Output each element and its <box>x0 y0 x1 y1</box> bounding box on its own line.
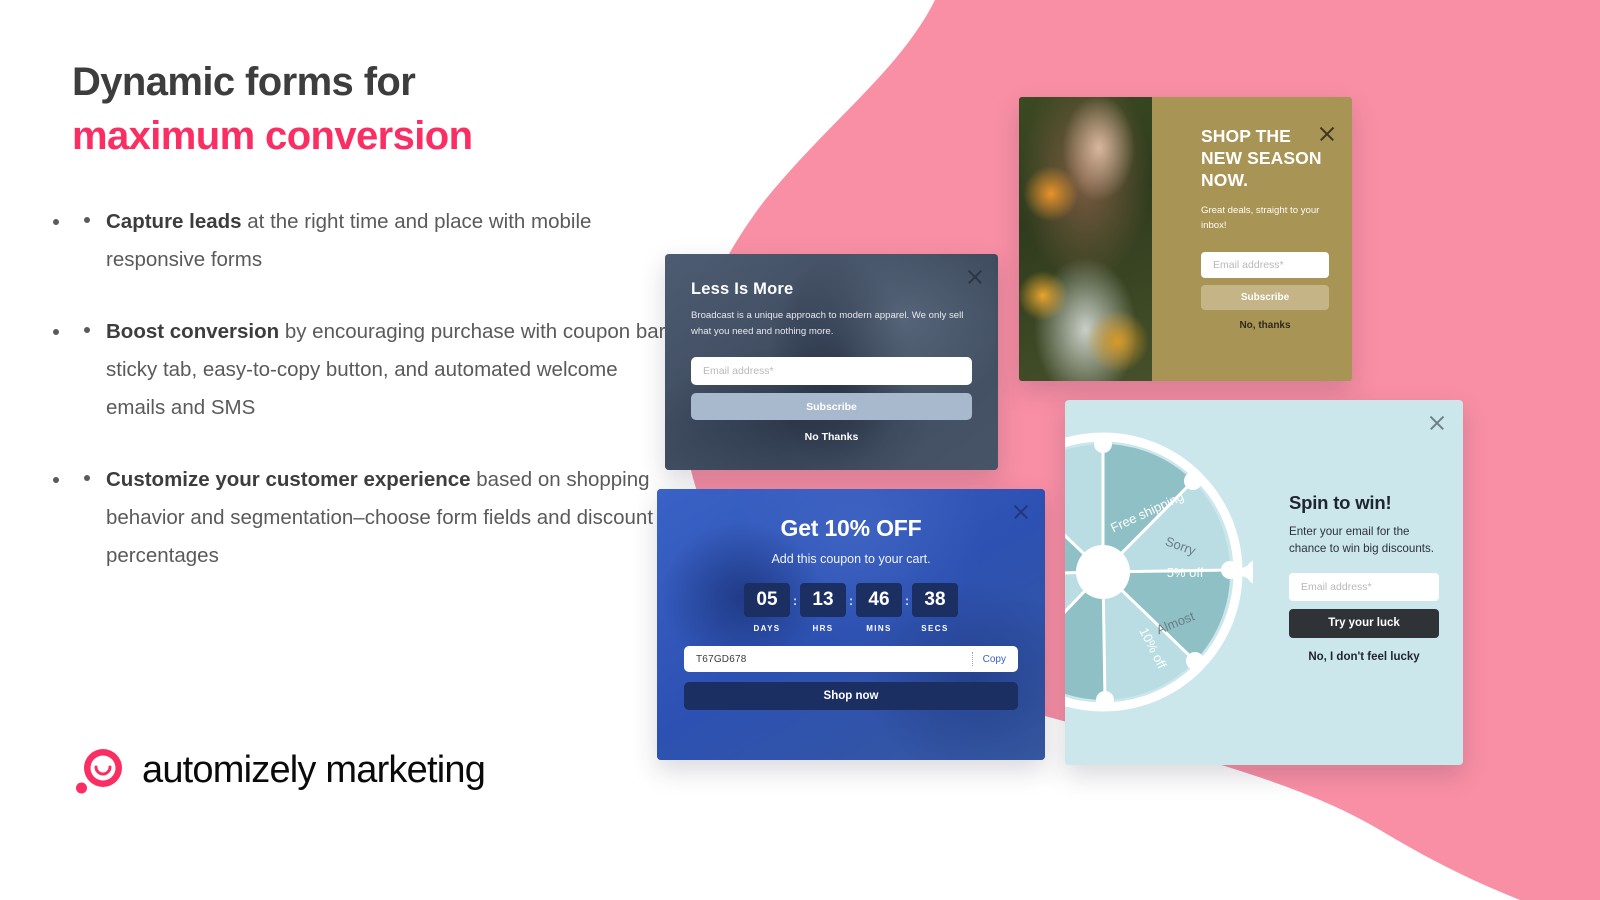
try-your-luck-button[interactable]: Try your luck <box>1289 609 1439 638</box>
timer-label: SECS <box>912 624 958 633</box>
divider <box>972 652 973 666</box>
feature-bullet-list: Capture leads at the right time and plac… <box>72 203 672 574</box>
copy-button[interactable]: Copy <box>983 654 1006 665</box>
wheel-hub <box>1076 545 1130 599</box>
close-icon[interactable] <box>1318 125 1336 143</box>
timer-unit-days: 05 DAYS <box>744 583 790 633</box>
timer-label: MINS <box>856 624 902 633</box>
hero-text-column: Dynamic forms for maximum conversion Cap… <box>72 56 672 609</box>
close-icon[interactable] <box>1012 503 1030 521</box>
brand-name: automizely marketing <box>142 749 485 792</box>
card-title: Less Is More <box>691 280 972 299</box>
bullet-lead-3: Customize your customer experience <box>106 468 471 491</box>
card-title: SHOP THE NEW SEASON NOW. <box>1201 125 1329 192</box>
popup-card-coupon: Get 10% OFF Add this coupon to your cart… <box>657 489 1045 760</box>
popup-card-shop-new-season: SHOP THE NEW SEASON NOW. Great deals, st… <box>1019 97 1352 381</box>
card-subtitle: Enter your email for the chance to win b… <box>1289 523 1439 558</box>
timer-unit-minutes: 46 MINS <box>856 583 902 633</box>
timer-separator: : <box>902 583 912 617</box>
timer-separator: : <box>846 583 856 617</box>
list-item: Customize your customer experience based… <box>72 461 672 575</box>
card-subtitle: Great deals, straight to your inbox! <box>1201 203 1329 234</box>
coupon-code-value: T67GD678 <box>696 654 972 665</box>
timer-label: DAYS <box>744 624 790 633</box>
shop-now-button[interactable]: Shop now <box>684 682 1018 710</box>
close-icon[interactable] <box>1428 414 1446 432</box>
card-title: Get 10% OFF <box>684 515 1018 542</box>
subscribe-button[interactable]: Subscribe <box>691 393 972 420</box>
decline-link[interactable]: No, thanks <box>1201 320 1329 331</box>
card-subtitle: Broadcast is a unique approach to modern… <box>691 308 971 339</box>
timer-unit-seconds: 38 SECS <box>912 583 958 633</box>
email-input[interactable] <box>1201 252 1329 278</box>
timer-label: HRS <box>800 624 846 633</box>
headline-line-1: Dynamic forms for <box>72 60 415 104</box>
timer-value: 05 <box>744 583 790 617</box>
automizely-smiley-icon <box>72 742 128 798</box>
prize-wheel[interactable]: Unlucky! Free shipping Sorry 5% off Almo… <box>1065 422 1253 722</box>
brand-logo: automizely marketing <box>72 742 485 798</box>
timer-unit-hours: 13 HRS <box>800 583 846 633</box>
popup-card-spin-to-win: Unlucky! Free shipping Sorry 5% off Almo… <box>1065 400 1463 765</box>
decline-link[interactable]: No, I don't feel lucky <box>1289 651 1439 663</box>
timer-value: 38 <box>912 583 958 617</box>
timer-separator: : <box>790 583 800 617</box>
subscribe-button[interactable]: Subscribe <box>1201 285 1329 310</box>
countdown-timer: 05 DAYS : 13 HRS : 46 MINS : 38 SECS <box>684 583 1018 633</box>
timer-value: 46 <box>856 583 902 617</box>
email-input[interactable] <box>1289 573 1439 601</box>
close-icon[interactable] <box>966 268 984 286</box>
card-subtitle: Add this coupon to your cart. <box>684 552 1018 566</box>
headline-line-2: maximum conversion <box>72 110 672 164</box>
card-title: Spin to win! <box>1289 492 1439 514</box>
page-title: Dynamic forms for maximum conversion <box>72 56 672 163</box>
popup-card-less-is-more: Less Is More Broadcast is a unique appro… <box>665 254 998 470</box>
email-input[interactable] <box>691 357 972 385</box>
wheel-label-3: 5% off <box>1167 565 1204 580</box>
list-item: Boost conversion by encouraging purchase… <box>72 313 672 427</box>
model-photo <box>1019 97 1152 381</box>
coupon-code-row: T67GD678 Copy <box>684 646 1018 672</box>
timer-value: 13 <box>800 583 846 617</box>
decline-link[interactable]: No Thanks <box>691 431 972 443</box>
bullet-lead-2: Boost conversion <box>106 320 279 343</box>
bullet-lead-1: Capture leads <box>106 210 242 233</box>
list-item: Capture leads at the right time and plac… <box>72 203 672 279</box>
